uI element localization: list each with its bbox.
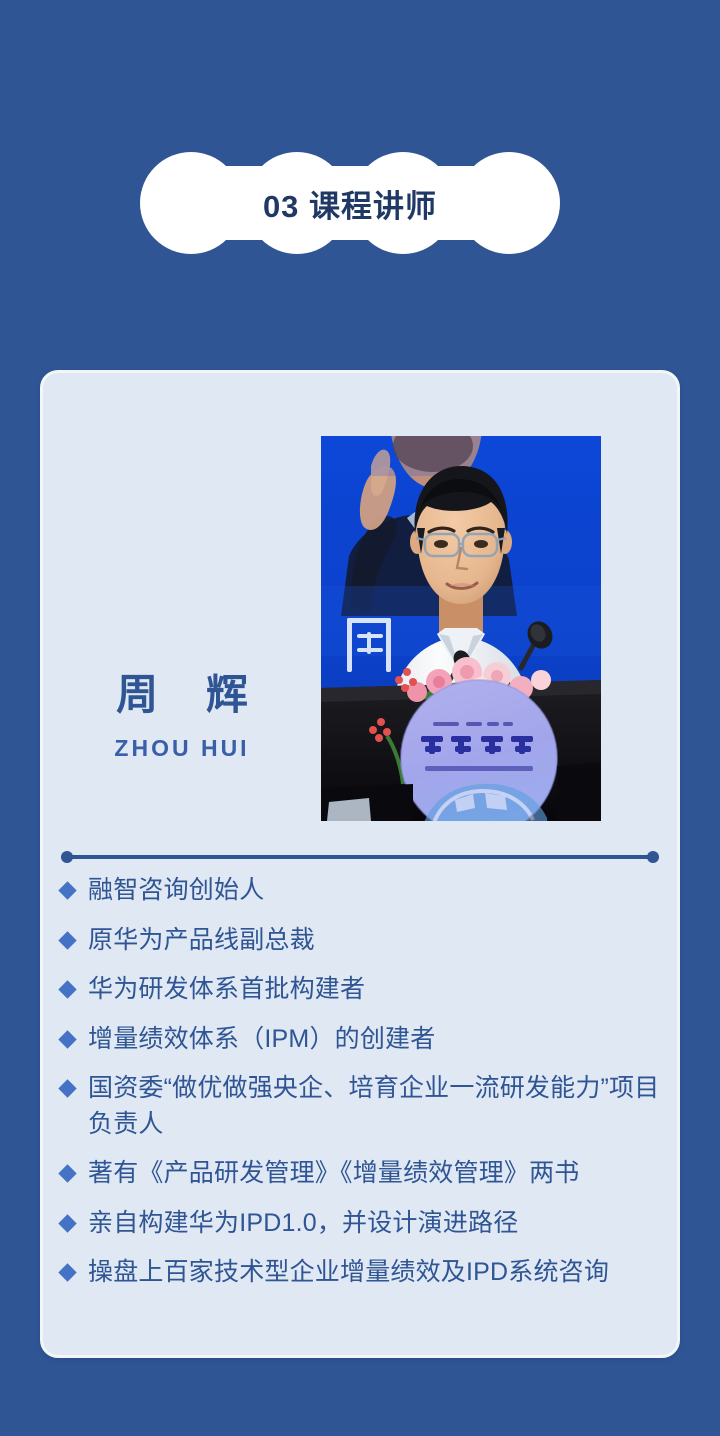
divider-line [67, 855, 653, 859]
diamond-bullet-icon [58, 1164, 76, 1182]
list-item: 著有《产品研发管理》《增量绩效管理》两书 [61, 1156, 671, 1192]
diamond-bullet-icon [58, 1079, 76, 1097]
speaker-card: 周 辉 ZHOU HUI [40, 370, 680, 1358]
list-item: 原华为产品线副总裁 [61, 923, 671, 959]
list-item: 华为研发体系首批构建者 [61, 972, 671, 1008]
list-item: 亲自构建华为IPD1.0，并设计演进路径 [61, 1206, 671, 1242]
divider-dot-right [647, 851, 659, 863]
bio-item-text: 融智咨询创始人 [88, 873, 264, 909]
speaker-card-top: 周 辉 ZHOU HUI [43, 373, 677, 823]
speaker-name-en: ZHOU HUI [43, 735, 321, 762]
speaker-bio-list: 融智咨询创始人 原华为产品线副总裁 华为研发体系首批构建者 增量绩效体系（IPM… [61, 873, 671, 1305]
bio-item-text: 亲自构建华为IPD1.0，并设计演进路径 [88, 1206, 518, 1242]
diamond-bullet-icon [58, 881, 76, 899]
list-item: 增量绩效体系（IPM）的创建者 [61, 1022, 671, 1058]
speaker-photo-illustration [321, 436, 601, 821]
list-item: 融智咨询创始人 [61, 873, 671, 909]
speaker-name-cn: 周 辉 [43, 671, 321, 719]
diamond-bullet-icon [58, 931, 76, 949]
diamond-bullet-icon [58, 1030, 76, 1048]
list-item: 操盘上百家技术型企业增量绩效及IPD系统咨询 [61, 1255, 671, 1291]
poster-page: 03 课程讲师 周 辉 ZHOU HUI [0, 0, 720, 1436]
bio-item-text: 华为研发体系首批构建者 [88, 972, 365, 1008]
bio-item-text: 操盘上百家技术型企业增量绩效及IPD系统咨询 [88, 1255, 609, 1291]
diamond-bullet-icon [58, 1214, 76, 1232]
bio-item-text: 增量绩效体系（IPM）的创建者 [88, 1022, 435, 1058]
diamond-bullet-icon [58, 980, 76, 998]
section-header-badge: 03 课程讲师 [140, 152, 560, 254]
speaker-name-block: 周 辉 ZHOU HUI [43, 671, 321, 762]
bio-item-text: 著有《产品研发管理》《增量绩效管理》两书 [88, 1156, 580, 1192]
page-title: 03 课程讲师 [140, 152, 560, 254]
speaker-photo [321, 436, 601, 821]
bio-item-text: 原华为产品线副总裁 [88, 923, 315, 959]
list-item: 国资委“做优做强央企、培育企业一流研发能力”项目负责人 [61, 1071, 671, 1142]
diamond-bullet-icon [58, 1263, 76, 1281]
bio-item-text: 国资委“做优做强央企、培育企业一流研发能力”项目负责人 [88, 1071, 671, 1142]
card-divider [61, 851, 659, 863]
